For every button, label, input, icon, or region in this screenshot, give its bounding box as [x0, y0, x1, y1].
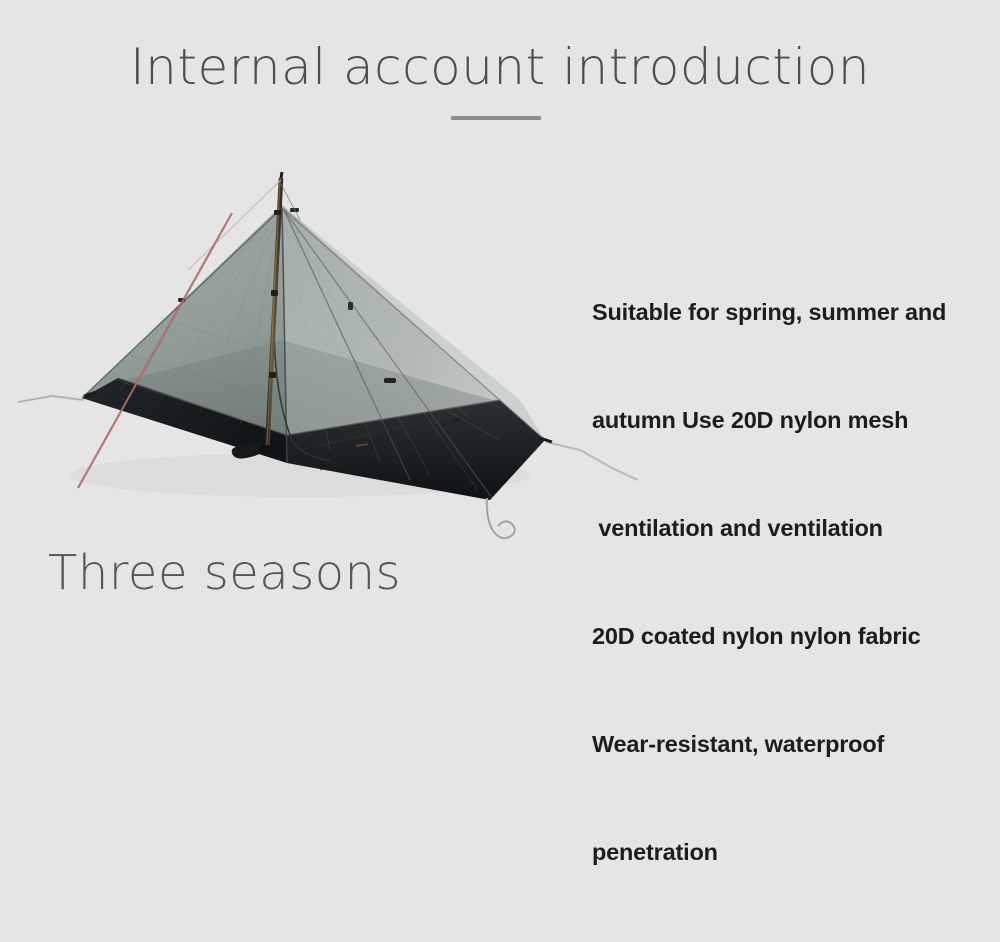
description-line-6: penetration	[592, 834, 992, 870]
mesh-clip-2	[348, 302, 353, 310]
footer-caption: Three seasons	[48, 545, 401, 601]
tent-illustration	[0, 150, 660, 550]
guyline-front-curl	[487, 498, 515, 538]
description-line-2: autumn Use 20D nylon mesh	[592, 402, 992, 438]
pole-foot-base	[259, 445, 273, 455]
mesh-clip-3	[384, 378, 396, 383]
pole-tip	[281, 172, 282, 178]
description-line-1: Suitable for spring, summer and	[592, 294, 992, 330]
pole-joint-2	[271, 290, 278, 296]
mesh-clip-5	[452, 418, 461, 422]
page-title: Internal account introduction	[0, 38, 1000, 96]
pole-joint-3	[269, 372, 276, 378]
product-description: Suitable for spring, summer and autumn U…	[592, 222, 992, 942]
guyline-front-curl-core	[487, 498, 515, 538]
product-info-page: Internal account introduction	[0, 0, 1000, 645]
description-line-3: ventilation and ventilation	[592, 510, 992, 546]
description-line-4: 20D coated nylon nylon fabric	[592, 618, 992, 654]
product-image-tent	[0, 150, 660, 550]
pole-joint-1	[274, 210, 281, 215]
title-divider	[451, 116, 541, 120]
description-line-5: Wear-resistant, waterproof	[592, 726, 992, 762]
